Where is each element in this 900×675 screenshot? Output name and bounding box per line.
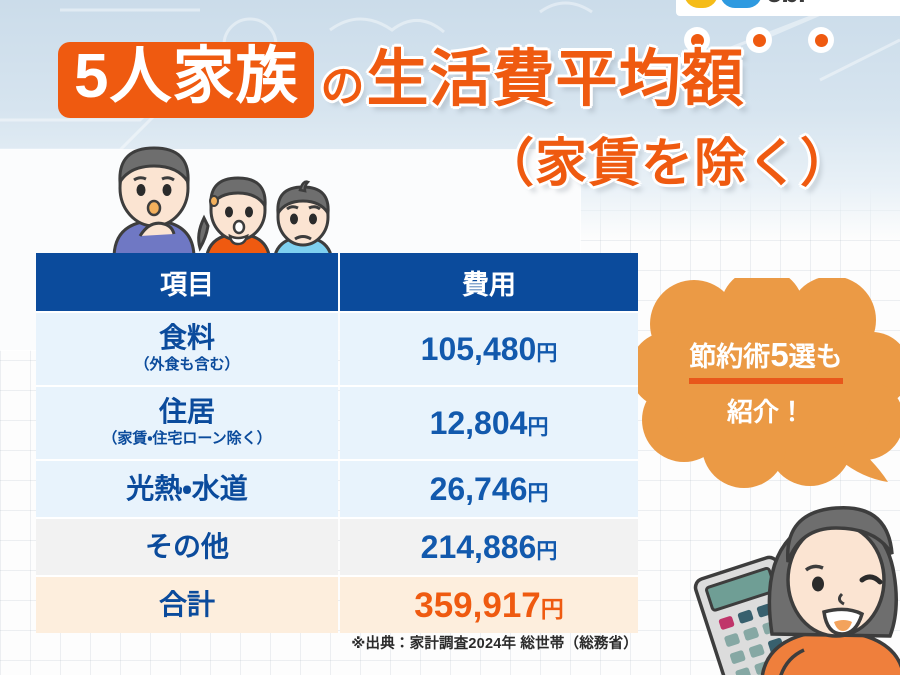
table-row: その他214,886円 bbox=[36, 517, 638, 575]
cost-unit: 円 bbox=[536, 342, 557, 365]
cost-table: 項目 費用 食料（外食も含む）105,480円住居（家賃・住宅ローン除く）12,… bbox=[36, 253, 638, 633]
table-row: 住居（家賃・住宅ローン除く）12,804円 bbox=[36, 385, 638, 459]
title-main-text: 生活費平均額 bbox=[366, 49, 744, 111]
cost-unit: 円 bbox=[527, 416, 548, 439]
item-label: その他 bbox=[145, 532, 229, 563]
page-title: 5人家族 の 生活費平均額 bbox=[58, 42, 878, 118]
logo-mark-icon bbox=[684, 0, 762, 8]
title-connector: の bbox=[320, 65, 364, 109]
cost-value: 26,746円 bbox=[430, 473, 549, 505]
woman-figure bbox=[762, 508, 900, 675]
table-row: 合計359,917円 bbox=[36, 575, 638, 633]
bubble-line1-number: 5 bbox=[770, 336, 788, 373]
table-cell-item: 合計 bbox=[36, 577, 338, 633]
bubble-line-1: 節約術5選も bbox=[689, 332, 842, 382]
item-note: （外食も含む） bbox=[134, 355, 239, 375]
cost-value: 214,886円 bbox=[421, 531, 558, 563]
title-subtitle: （家賃を除く） bbox=[482, 138, 853, 190]
site-logo[interactable]: ebi bbox=[676, 0, 900, 16]
table-cell-cost: 105,480円 bbox=[340, 313, 638, 385]
bubble-line-2: 紹介！ bbox=[632, 394, 900, 431]
table-cell-item: 住居（家賃・住宅ローン除く） bbox=[36, 387, 338, 459]
bubble-line1-prefix: 節約術 bbox=[689, 342, 770, 372]
item-label: 光熱・水道 bbox=[126, 474, 248, 505]
item-label: 食料 bbox=[159, 323, 215, 354]
cost-amount: 214,886 bbox=[421, 529, 537, 565]
table-cell-cost: 214,886円 bbox=[340, 519, 638, 575]
family-illustration bbox=[96, 140, 346, 265]
cost-amount: 12,804 bbox=[430, 405, 528, 441]
table-cell-cost: 12,804円 bbox=[340, 387, 638, 459]
table-body: 食料（外食も含む）105,480円住居（家賃・住宅ローン除く）12,804円光熱… bbox=[36, 311, 638, 633]
table-header-row: 項目 費用 bbox=[36, 253, 638, 311]
cost-unit: 円 bbox=[541, 596, 564, 622]
table-header-item: 項目 bbox=[36, 253, 338, 311]
table-row: 食料（外食も含む）105,480円 bbox=[36, 311, 638, 385]
cost-amount: 105,480 bbox=[421, 331, 537, 367]
table-header-cost: 費用 bbox=[340, 253, 638, 311]
speech-bubble-text: 節約術5選も 紹介！ bbox=[632, 332, 900, 431]
woman-with-calculator-illustration bbox=[676, 488, 900, 675]
source-footnote: ※出典：家計調査2024年 総世帯（総務省） bbox=[0, 632, 638, 653]
cost-unit: 円 bbox=[527, 482, 548, 505]
logo-text: ebi bbox=[766, 0, 805, 8]
table-cell-item: 食料（外食も含む） bbox=[36, 313, 338, 385]
item-label: 合計 bbox=[159, 590, 215, 621]
cost-amount: 26,746 bbox=[430, 471, 528, 507]
table-cell-item: その他 bbox=[36, 519, 338, 575]
table-cell-item: 光熱・水道 bbox=[36, 461, 338, 517]
cost-value: 105,480円 bbox=[421, 333, 558, 365]
bubble-line1-suffix: 選も bbox=[789, 342, 843, 372]
table-cell-cost: 26,746円 bbox=[340, 461, 638, 517]
cost-amount: 359,917 bbox=[414, 586, 541, 625]
item-note: （家賃・住宅ローン除く） bbox=[102, 429, 271, 449]
infographic-canvas: ebi 5人家族 の 生活費平均額 （家賃を除く） bbox=[0, 0, 900, 675]
table-row: 光熱・水道26,746円 bbox=[36, 459, 638, 517]
cost-unit: 円 bbox=[536, 540, 557, 563]
item-label: 住居 bbox=[159, 397, 215, 428]
cost-value: 359,917円 bbox=[414, 588, 564, 623]
table-cell-cost: 359,917円 bbox=[340, 577, 638, 633]
title-highlight-badge: 5人家族 bbox=[58, 42, 314, 118]
cost-value: 12,804円 bbox=[430, 407, 549, 439]
speech-bubble: 節約術5選も 紹介！ bbox=[632, 278, 900, 488]
